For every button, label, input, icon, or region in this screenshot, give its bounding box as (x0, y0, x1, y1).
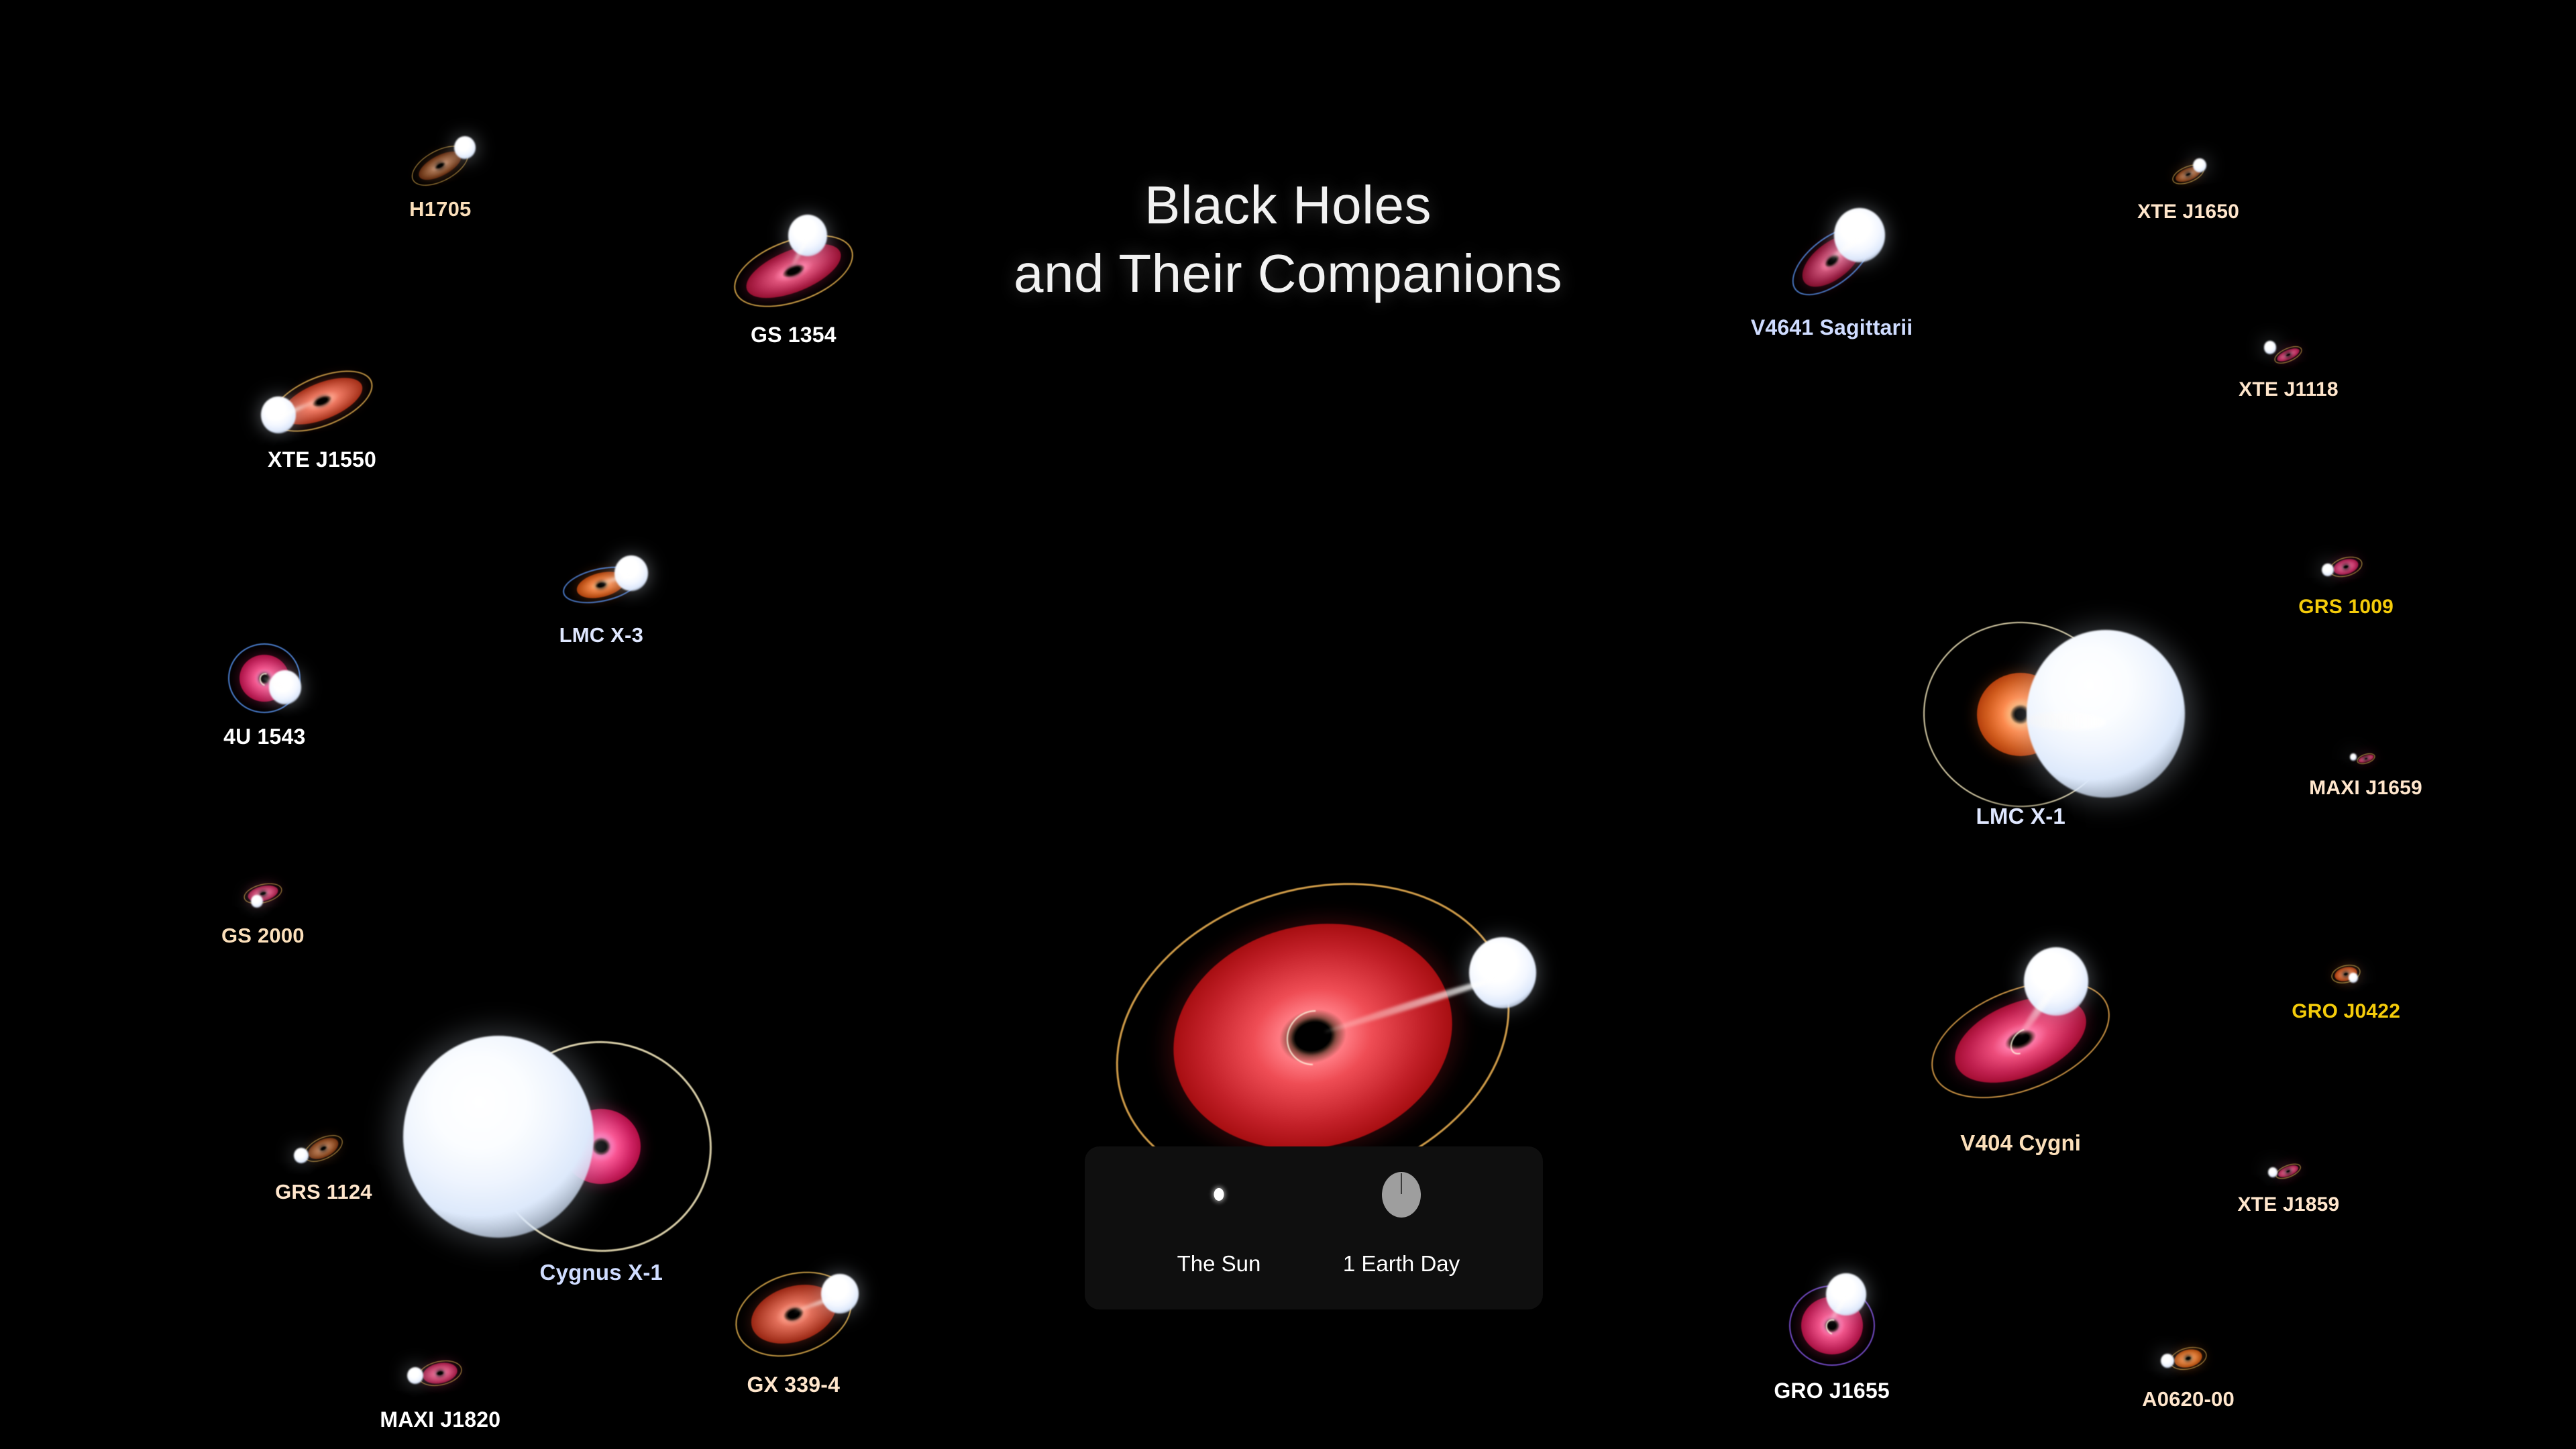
system-label: LMC X-1 (1976, 804, 2065, 829)
binary-system[interactable]: V4641 Sagittarii (1829, 258, 1835, 264)
binary-system[interactable]: XTE J1118 (2285, 352, 2292, 358)
system-label: GRS 1009 (2298, 596, 2394, 619)
companion-star (261, 396, 296, 433)
binary-system[interactable]: H1705 (437, 162, 443, 169)
binary-system[interactable]: V404 Cygni (2017, 1036, 2024, 1043)
companion-star (788, 215, 827, 256)
title-line-1: Black Holes (1014, 171, 1562, 239)
sun-dot-icon (1214, 1188, 1224, 1201)
binary-system[interactable]: GRS 1009 (2343, 563, 2349, 570)
binary-system[interactable]: XTE J1650 (2185, 171, 2192, 178)
legend-item-sun: The Sun (1152, 1188, 1286, 1277)
companion-star (403, 1036, 594, 1238)
system-label: GRO J1655 (1774, 1379, 1890, 1403)
companion-star (294, 1148, 309, 1163)
system-label: LMC X-3 (559, 623, 643, 647)
system-label: V404 Cygni (1960, 1130, 2081, 1156)
binary-system[interactable]: LMC X-3 (598, 582, 604, 588)
binary-system[interactable]: GRS 1915 (1309, 1033, 1316, 1040)
system-label: XTE J1118 (2239, 378, 2339, 401)
system-label: GRS 1124 (275, 1180, 372, 1204)
companion-star (2322, 563, 2334, 576)
companion-star (2161, 1354, 2174, 1368)
companion-star (251, 895, 263, 908)
binary-system[interactable]: XTE J1550 (319, 398, 325, 405)
companion-star (821, 1274, 859, 1313)
system-label: Cygnus X-1 (540, 1260, 663, 1285)
system-label: XTE J1859 (2237, 1193, 2339, 1216)
binary-system[interactable]: GRO J0422 (2343, 971, 2349, 977)
system-label: MAXI J1659 (2309, 777, 2422, 800)
system-label: 4U 1543 (223, 724, 305, 749)
binary-system[interactable]: GX 339-4 (790, 1311, 797, 1318)
binary-system[interactable]: Cygnus X-1 (598, 1143, 604, 1150)
legend-panel: The Sun 1 Earth Day (1085, 1146, 1543, 1309)
companion-star (2264, 341, 2276, 354)
system-label: A0620-00 (2142, 1387, 2235, 1411)
system-label: XTE J1550 (268, 447, 376, 472)
companion-star (1469, 937, 1536, 1008)
companion-star (454, 136, 476, 159)
companion-star (2024, 947, 2088, 1016)
binary-system[interactable]: MAXI J1820 (437, 1370, 443, 1377)
companion-star (614, 555, 648, 591)
system-label: GS 2000 (221, 924, 305, 948)
binary-system[interactable]: MAXI J1659 (2363, 755, 2369, 762)
page-title: Black Holes and Their Companions (1014, 171, 1562, 309)
companion-star (1826, 1273, 1866, 1316)
binary-system[interactable]: GS 2000 (260, 890, 266, 897)
companion-star (407, 1367, 423, 1384)
binary-system[interactable]: GRS 1124 (320, 1145, 327, 1152)
system-label: XTE J1650 (2137, 201, 2239, 223)
system-label: MAXI J1820 (380, 1407, 500, 1432)
companion-star (2193, 158, 2206, 172)
system-label: H1705 (409, 197, 471, 221)
legend-label-sun: The Sun (1152, 1251, 1286, 1277)
system-label: V4641 Sagittarii (1751, 315, 1913, 340)
legend-label-earth-day: 1 Earth Day (1334, 1251, 1468, 1277)
earth-day-disc-icon (1382, 1172, 1421, 1218)
binary-system[interactable]: XTE J1859 (2285, 1168, 2292, 1175)
binary-system[interactable]: 4U 1543 (261, 675, 268, 682)
system-label: GX 339-4 (747, 1373, 841, 1397)
binary-system[interactable]: LMC X-1 (2017, 711, 2024, 718)
legend-item-earth-day: 1 Earth Day (1334, 1172, 1468, 1277)
system-label: GS 1354 (751, 323, 837, 347)
binary-system[interactable]: A0620-00 (2185, 1355, 2192, 1362)
system-label: GRO J0422 (2292, 1000, 2400, 1023)
title-line-2: and Their Companions (1014, 239, 1562, 308)
companion-star (269, 670, 301, 704)
binary-system[interactable]: GS 1354 (790, 268, 797, 274)
binary-system[interactable]: GRO J1655 (1829, 1322, 1835, 1329)
starfield-canvas: Black Holes and Their Companions H1705GS… (0, 0, 2576, 1449)
